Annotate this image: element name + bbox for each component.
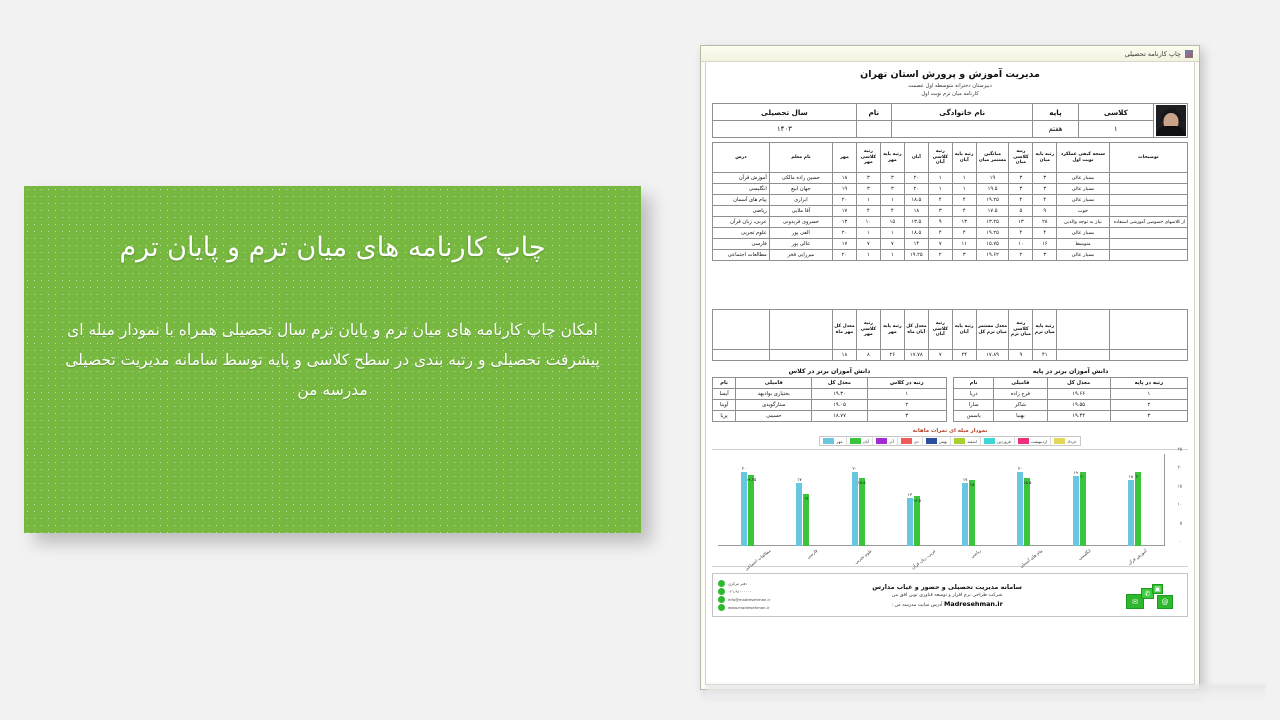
table-row: بسیار عالی۳۲۱۹.۶۲۳۲۱۹.۲۵۱۱۲۰میرزایی فخرم… — [713, 250, 1188, 261]
grades-cell-teacher: میرزایی فخر — [769, 250, 832, 261]
summary-header-row: رتبه پایه میان ترمرتبه کلاسی میان ترممعد… — [713, 310, 1188, 350]
grades-cell-qual: متوسط — [1057, 239, 1109, 250]
grades-col-header: رتبه پایه آبان — [952, 143, 976, 173]
avatar — [1156, 105, 1186, 136]
promo-slide-title: چاپ کارنامه های میان ترم و پایان ترم — [42, 186, 623, 269]
identity-value-grade: هفتم — [1033, 121, 1078, 138]
grades-cell-rank_class_aban: ۴ — [928, 228, 952, 239]
class-ranking-table: رتبه در کلاسمعدل کلفامیلینام ۱۱۹.۳۰بختیا… — [712, 377, 947, 422]
bar-aban: ۱۸.۵ — [1024, 478, 1030, 546]
footer-system-name: سامانه مدیریت تحصیلی و حضور و غیاب مدارس — [776, 583, 1118, 591]
grades-cell-qual: بسیار عالی — [1057, 184, 1109, 195]
legend-item: آذر — [872, 437, 897, 445]
bar-aban: ۲۰ — [1080, 472, 1086, 546]
footer-contacts: دفتر مرکزی۰۲۱-۹۱۰۰۰۰۰۰info@madresehman.i… — [718, 580, 770, 611]
bar-mehr: ۱۳ — [907, 498, 913, 546]
legend-item: آبان — [846, 437, 872, 445]
identity-header-firstname: نام — [856, 104, 891, 121]
grades-cell-avg_mid: ۱۵.۷۵ — [976, 239, 1009, 250]
legend-label: دی — [914, 439, 919, 444]
class-rank-cell-rank: ۱ — [867, 389, 946, 400]
bar-value-label: ۲۰ — [852, 466, 857, 471]
table-row: متوسط۱۶۱۰۱۵.۷۵۱۱۷۱۴۷۷۱۷عالی پورفارسی — [713, 239, 1188, 250]
summary-cell — [1109, 350, 1187, 361]
grade-rank-cell-name: یاسمن — [954, 411, 994, 422]
grades-cell-rank_grade_mehr: ۱ — [880, 195, 904, 206]
summary-col-header — [769, 310, 832, 350]
grades-body: بسیار عالی۳۳۱۹۱۱۲۰۳۳۱۸حسین زاده مالکیآمو… — [713, 173, 1188, 261]
grade-rank-cell-name: سارا — [954, 400, 994, 411]
grades-cell-teacher: ابرازی — [769, 195, 832, 206]
grades-col-header: آبان — [904, 143, 928, 173]
grades-cell-qual: بسیار عالی — [1057, 250, 1109, 261]
grades-cell-rank_grade_mid: ۴ — [1033, 228, 1057, 239]
bar-value-label: ۲۰ — [1018, 466, 1023, 471]
chart-title: نمودار میله ای نمرات ماهانه — [712, 428, 1188, 434]
window-title: چاپ کارنامه تحصیلی — [1125, 50, 1181, 58]
grades-cell-aban: ۱۸.۵ — [904, 228, 928, 239]
bar-value-label: ۱۳.۵ — [913, 498, 921, 503]
y-tick-label: ۵ — [1180, 520, 1182, 525]
school-name: دبیرستان دخترانه متوسطه اول عصمت — [706, 83, 1194, 89]
grades-cell-rank_grade_aban: ۱۳ — [952, 217, 976, 228]
grades-cell-teacher: عالی پور — [769, 239, 832, 250]
grades-cell-rank_grade_mid: ۳ — [1033, 184, 1057, 195]
legend-swatch — [823, 438, 834, 444]
legend-item: مهر — [820, 437, 845, 445]
summary-cell — [1057, 350, 1109, 361]
grade-rank-col-header: فامیلی — [994, 378, 1047, 389]
grades-cell-rank_class_mehr: ۴ — [856, 206, 880, 217]
grades-cell-rank_class_mehr: ۱ — [856, 228, 880, 239]
mobile-icon — [718, 588, 725, 595]
bar-value-label: ۱۹.۲۵ — [746, 477, 756, 482]
student-photo-cell — [1154, 104, 1188, 138]
grades-cell-rank_grade_mid: ۴ — [1033, 195, 1057, 206]
bar-value-label: ۱۸.۵ — [858, 480, 866, 485]
grades-cell-rank_class_mid: ۱۰ — [1009, 239, 1033, 250]
legend-swatch — [926, 438, 937, 444]
summary-value-row: ۴۱۹۱۷.۸۹۲۴۷۱۷.۷۸۲۶۸۱۸ — [713, 350, 1188, 361]
grade-rank-cell-avg: ۱۹.۶۶ — [1047, 389, 1110, 400]
summary-cell: ۹ — [1009, 350, 1033, 361]
grades-header-row: توضیحاتسنجه کیفی عملکرد نوبت اولرتبه پای… — [713, 143, 1188, 173]
table-row: بسیار عالی۳۳۱۹۱۱۲۰۳۳۱۸حسین زاده مالکیآمو… — [713, 173, 1188, 184]
grade-rank-col-header: معدل کل — [1047, 378, 1110, 389]
grade-rank-cell-avg: ۱۹.۵۵ — [1047, 400, 1110, 411]
class-rank-cell-avg: ۱۸.۷۷ — [812, 411, 867, 422]
grades-cell-aban: ۱۳.۵ — [904, 217, 928, 228]
grades-col-header: رتبه کلاسی آبان — [928, 143, 952, 173]
grade-ranking-block: دانش آموزان برتر در پایه رتبه در پایهمعد… — [953, 368, 1188, 422]
class-rank-cell-avg: ۱۹.۰۵ — [812, 400, 867, 411]
footer-company: شرکت طراحی نرم افزار و توسعه فناوری نوین… — [776, 593, 1118, 598]
grade-rank-col-header: نام — [954, 378, 994, 389]
grades-cell-rank_class_aban: ۲ — [928, 250, 952, 261]
grades-cell-avg_mid: ۱۹.۵ — [976, 184, 1009, 195]
grades-cell-rank_grade_mehr: ۴ — [880, 206, 904, 217]
summary-col-header: رتبه پایه مهر — [880, 310, 904, 350]
table-row: ۱۱۹.۶۶فرج زادهدریا — [954, 389, 1188, 400]
grades-cell-note — [1109, 184, 1187, 195]
grades-cell-rank_grade_mid: ۳ — [1033, 250, 1057, 261]
legend-swatch — [954, 438, 965, 444]
grades-cell-teacher: الفی پور — [769, 228, 832, 239]
table-row: ۳۱۸.۷۷حسینیپریا — [713, 411, 947, 422]
identity-value-lastname — [891, 121, 1032, 138]
summary-cell — [769, 350, 832, 361]
grades-cell-rank_class_mid: ۴ — [1009, 228, 1033, 239]
report-page: مدیریت آموزش و پرورش استان تهران دبیرستا… — [705, 62, 1195, 685]
footer-website-line: Madresehman.ir آدرس سایت مدرسه من : — [776, 600, 1118, 608]
grades-cell-mehr: ۱۹ — [832, 184, 856, 195]
report-type: کارنامه میان ترم نوبت اول — [706, 91, 1194, 97]
email-icon — [718, 596, 725, 603]
bar-mehr: ۱۸ — [1128, 480, 1134, 546]
bar-group: ۲۰۱۹ — [1073, 454, 1086, 546]
bar-mehr: ۲۰ — [852, 472, 858, 546]
legend-label: اردیبهشت — [1031, 439, 1047, 444]
grade-rank-cell-family: بهنیا — [994, 411, 1047, 422]
grades-cell-rank_class_mid: ۱۳ — [1009, 217, 1033, 228]
grades-cell-mehr: ۱۳ — [832, 217, 856, 228]
summary-cell: ۴۱ — [1033, 350, 1057, 361]
chart-bars: ۲۰۱۸۲۰۱۹۱۸.۵۲۰۱۸۱۷۱۳.۵۱۳۱۸.۵۲۰۱۴۱۷۱۹.۲۵۲… — [720, 454, 1162, 546]
legend-swatch — [1018, 438, 1029, 444]
bar-value-label: ۲۰ — [742, 466, 747, 471]
grades-cell-subject: آموزش قرآن — [713, 173, 770, 184]
grades-cell-rank_grade_aban: ۴ — [952, 195, 976, 206]
table-row: ۲۱۹.۵۵شاکرسارا — [954, 400, 1188, 411]
identity-value-class: ۱ — [1078, 121, 1153, 138]
brand-logo-icon: ✉ ✆ ▣ @ — [1124, 578, 1182, 612]
bar-aban: ۱۳.۵ — [914, 496, 920, 546]
grades-cell-mehr: ۱۷ — [832, 239, 856, 250]
summary-col-header: رتبه کلاسی مهر — [856, 310, 880, 350]
grades-cell-rank_grade_mehr: ۱ — [880, 228, 904, 239]
class-rank-cell-rank: ۳ — [867, 411, 946, 422]
grades-cell-rank_grade_mehr: ۱ — [880, 250, 904, 261]
grades-cell-rank_class_mehr: ۳ — [856, 173, 880, 184]
grades-cell-aban: ۲۰ — [904, 173, 928, 184]
grade-ranking-header-row: رتبه در پایهمعدل کلفامیلینام — [954, 378, 1188, 389]
bar-group: ۱۸.۵۲۰ — [1017, 454, 1030, 546]
grades-col-header: میانگین مستمر میان — [976, 143, 1009, 173]
grades-cell-note — [1109, 239, 1187, 250]
bar-aban: ۲۰ — [1135, 472, 1141, 546]
x-tick-label: علوم تجربی — [853, 548, 880, 575]
grades-cell-rank_grade_aban: ۴ — [952, 228, 976, 239]
grade-rank-cell-family: شاکر — [994, 400, 1047, 411]
legend-label: اسفند — [967, 439, 977, 444]
footer-brand: Madresehman.ir — [944, 600, 1003, 608]
bar-value-label: ۲۰ — [1136, 474, 1141, 479]
bar-mehr: ۲۰ — [1017, 472, 1023, 546]
legend-item: بهمن — [922, 437, 950, 445]
grades-cell-rank_grade_mehr: ۷ — [880, 239, 904, 250]
chart-legend: خرداداردیبهشتفروردیناسفندبهمندیآذرآبانمه… — [819, 436, 1080, 446]
bar-aban: ۱۸ — [969, 480, 975, 546]
grades-cell-teacher: آقا ملایی — [769, 206, 832, 217]
y-tick-label: ۲۰ — [1178, 465, 1183, 470]
globe-icon — [718, 604, 725, 611]
grades-col-header: رتبه پایه میان — [1033, 143, 1057, 173]
grades-cell-rank_class_aban: ۱ — [928, 184, 952, 195]
legend-label: آذر — [889, 439, 894, 444]
grades-col-header: توضیحات — [1109, 143, 1187, 173]
x-tick-label: انگلیسی — [1077, 548, 1100, 571]
y-tick-label: ۲۵ — [1178, 447, 1183, 452]
grades-cell-rank_class_mehr: ۳ — [856, 184, 880, 195]
bar-value-label: ۱۸ — [1129, 474, 1134, 479]
class-ranking-caption: دانش آموزان برتر در کلاس — [712, 368, 947, 375]
grade-rank-cell-rank: ۲ — [1110, 400, 1187, 411]
grades-cell-note — [1109, 173, 1187, 184]
grades-cell-qual: بسیار عالی — [1057, 228, 1109, 239]
summary-col-header: رتبه کلاسی میان ترم — [1009, 310, 1033, 350]
table-row: خوب۹۵۱۷.۵۴۳۱۸۴۴۱۷آقا ملاییریاضی — [713, 206, 1188, 217]
grades-cell-rank_class_mehr: ۱۰ — [856, 217, 880, 228]
identity-value-firstname — [856, 121, 891, 138]
table-row: ۱۱۹.۳۰بختیاری بوادیهدآیسا — [713, 389, 947, 400]
grades-cell-rank_class_mid: ۳ — [1009, 184, 1033, 195]
legend-item: اسفند — [950, 437, 980, 445]
grades-cell-rank_grade_mid: ۳ — [1033, 173, 1057, 184]
grade-rank-cell-avg: ۱۹.۴۴ — [1047, 411, 1110, 422]
class-rank-col-header: فامیلی — [736, 378, 812, 389]
report-preview-window: چاپ کارنامه تحصیلی مدیریت آموزش و پرورش … — [700, 45, 1200, 690]
legend-swatch — [901, 438, 912, 444]
grades-cell-subject: مطالعات اجتماعی — [713, 250, 770, 261]
grades-cell-avg_mid: ۱۷.۵ — [976, 206, 1009, 217]
report-footer: ✉ ✆ ▣ @ سامانه مدیریت تحصیلی و حضور و غی… — [712, 573, 1188, 617]
contact-row: ۰۲۱-۹۱۰۰۰۰۰۰ — [718, 588, 752, 595]
grades-cell-rank_class_mehr: ۱ — [856, 250, 880, 261]
grades-cell-rank_class_aban: ۱ — [928, 173, 952, 184]
grades-cell-aban: ۲۰ — [904, 184, 928, 195]
y-tick-label: ۰ — [1180, 539, 1182, 544]
legend-label: فروردین — [997, 439, 1011, 444]
org-title: مدیریت آموزش و پرورش استان تهران — [706, 69, 1194, 80]
summary-cell: ۲۴ — [952, 350, 976, 361]
grades-cell-rank_grade_mehr: ۱۵ — [880, 217, 904, 228]
x-tick-label: ریاضی — [970, 548, 990, 569]
class-ranking-header-row: رتبه در کلاسمعدل کلفامیلینام — [713, 378, 947, 389]
class-rank-col-header: معدل کل — [812, 378, 867, 389]
summary-cell: ۷ — [928, 350, 952, 361]
contact-row: info@madresehman.ir — [718, 596, 770, 603]
identity-header-row: کلاسی پایه نام خانوادگی نام سال تحصیلی — [713, 104, 1188, 121]
class-rank-cell-name: پریا — [713, 411, 736, 422]
contact-row: دفتر مرکزی — [718, 580, 747, 587]
summary-col-header — [713, 310, 770, 350]
table-row: از کلاسهای خصوصی آموزشی استفادهنیاز به ت… — [713, 217, 1188, 228]
page-bottom-shadow — [706, 684, 1266, 698]
identity-value-year: ۱۴۰۳ — [713, 121, 857, 138]
class-rank-col-header: رتبه در کلاس — [867, 378, 946, 389]
legend-item: اردیبهشت — [1014, 437, 1050, 445]
summary-col-header: رتبه پایه میان ترم — [1033, 310, 1057, 350]
grades-cell-avg_mid: ۱۹.۲۵ — [976, 228, 1009, 239]
summary-cell: ۸ — [856, 350, 880, 361]
identity-header-grade: پایه — [1033, 104, 1078, 121]
grades-cell-mehr: ۱۸ — [832, 173, 856, 184]
x-tick-label: آموزش قرآن — [1127, 548, 1156, 576]
grades-cell-rank_class_aban: ۴ — [928, 195, 952, 206]
legend-swatch — [984, 438, 995, 444]
grades-cell-rank_class_aban: ۷ — [928, 239, 952, 250]
grades-cell-subject: علوم تجربی — [713, 228, 770, 239]
rankings-section: دانش آموزان برتر در پایه رتبه در پایهمعد… — [712, 368, 1188, 422]
summary-cell — [713, 350, 770, 361]
contact-text: www.madresehman.ir — [728, 605, 769, 610]
grades-cell-teacher: حسین زاده مالکی — [769, 173, 832, 184]
bar-value-label: ۱۴ — [804, 496, 809, 501]
bar-mehr: ۱۹ — [1073, 476, 1079, 546]
chart-plot-area: ۰۵۱۰۱۵۲۰۲۵ ۲۰۱۸۲۰۱۹۱۸.۵۲۰۱۸۱۷۱۳.۵۱۳۱۸.۵۲… — [712, 449, 1188, 567]
promo-slide: چاپ کارنامه های میان ترم و پایان ترم امک… — [24, 186, 641, 533]
x-tick-label: فارسی — [805, 548, 826, 570]
grades-cell-aban: ۱۸.۵ — [904, 195, 928, 206]
grades-cell-note — [1109, 250, 1187, 261]
grade-ranking-body: ۱۱۹.۶۶فرج زادهدریا۲۱۹.۵۵شاکرسارا۳۱۹.۴۴به… — [954, 389, 1188, 422]
grades-cell-avg_mid: ۱۳.۲۵ — [976, 217, 1009, 228]
grades-cell-note — [1109, 228, 1187, 239]
identity-header-class: کلاسی — [1078, 104, 1153, 121]
chart-y-axis-line — [1164, 454, 1165, 546]
grades-cell-rank_grade_aban: ۴ — [952, 206, 976, 217]
class-rank-cell-family: حسینی — [736, 411, 812, 422]
class-rank-cell-name: آیسا — [713, 389, 736, 400]
monthly-scores-chart: نمودار میله ای نمرات ماهانه خرداداردیبهش… — [712, 428, 1188, 567]
grades-cell-rank_grade_mehr: ۳ — [880, 173, 904, 184]
chart-x-labels: آموزش قرآنانگلیسیپیام های آسمانریاضیعربی… — [720, 546, 1162, 566]
grades-cell-aban: ۱۴ — [904, 239, 928, 250]
summary-col-header: معدل کل آبان ماه — [904, 310, 928, 350]
grade-rank-cell-rank: ۳ — [1110, 411, 1187, 422]
table-row: بسیار عالی۴۴۱۹.۲۵۴۴۱۸.۵۱۱۲۰الفی پورعلوم … — [713, 228, 1188, 239]
legend-swatch — [850, 438, 861, 444]
legend-item: فروردین — [980, 437, 1014, 445]
summary-col-header: معدل مستمر میان ترم کل — [976, 310, 1009, 350]
grades-cell-subject: فارسی — [713, 239, 770, 250]
class-ranking-body: ۱۱۹.۳۰بختیاری بوادیهدآیسا۲۱۹.۰۵ستارگویدی… — [713, 389, 947, 422]
grades-col-header: رتبه پایه مهر — [880, 143, 904, 173]
grades-cell-subject: ریاضی — [713, 206, 770, 217]
grade-ranking-table: رتبه در پایهمعدل کلفامیلینام ۱۱۹.۶۶فرج ز… — [953, 377, 1188, 422]
grades-cell-mehr: ۱۷ — [832, 206, 856, 217]
grades-cell-rank_class_mid: ۲ — [1009, 250, 1033, 261]
legend-label: خرداد — [1067, 439, 1076, 444]
bar-mehr: ۱۷ — [962, 483, 968, 546]
class-rank-cell-rank: ۲ — [867, 400, 946, 411]
summary-cell: ۱۸ — [832, 350, 856, 361]
legend-item: خرداد — [1050, 437, 1079, 445]
student-identity-table: کلاسی پایه نام خانوادگی نام سال تحصیلی ۱… — [712, 103, 1188, 138]
grades-cell-subject: پیام های آسمان — [713, 195, 770, 206]
bar-group: ۱۳.۵۱۳ — [907, 454, 920, 546]
class-ranking-block: دانش آموزان برتر در کلاس رتبه در کلاسمعد… — [712, 368, 947, 422]
grades-cell-rank_grade_mid: ۲۸ — [1033, 217, 1057, 228]
identity-value-row: ۱ هفتم ۱۴۰۳ — [713, 121, 1188, 138]
summary-table: رتبه پایه میان ترمرتبه کلاسی میان ترممعد… — [712, 309, 1188, 361]
grades-cell-avg_mid: ۱۹.۶۲ — [976, 250, 1009, 261]
grades-cell-mehr: ۲۰ — [832, 195, 856, 206]
bar-value-label: ۱۳ — [908, 492, 913, 497]
grades-col-header: مهر — [832, 143, 856, 173]
grades-cell-teacher: جهان ابیع — [769, 184, 832, 195]
grades-cell-mehr: ۲۰ — [832, 250, 856, 261]
contact-text: دفتر مرکزی — [728, 581, 747, 586]
bar-mehr: ۲۰ — [741, 472, 747, 546]
bar-aban: ۱۸.۵ — [859, 478, 865, 546]
summary-col-header: معدل کل مهر ماه — [832, 310, 856, 350]
summary-col-header — [1057, 310, 1109, 350]
grades-cell-qual: خوب — [1057, 206, 1109, 217]
grades-cell-rank_class_aban: ۹ — [928, 217, 952, 228]
table-row: بسیار عالی۴۴۱۹.۲۵۴۴۱۸.۵۱۱۲۰ابرازیپیام ها… — [713, 195, 1188, 206]
summary-cell: ۲۶ — [880, 350, 904, 361]
bar-group: ۲۰۱۸ — [1128, 454, 1141, 546]
class-rank-cell-avg: ۱۹.۳۰ — [812, 389, 867, 400]
grades-cell-rank_class_mehr: ۷ — [856, 239, 880, 250]
grades-col-header: نام معلم — [769, 143, 832, 173]
grades-col-header: درس — [713, 143, 770, 173]
grades-cell-rank_grade_mid: ۱۶ — [1033, 239, 1057, 250]
bar-group: ۱۸.۵۲۰ — [852, 454, 865, 546]
grades-cell-rank_class_mid: ۴ — [1009, 195, 1033, 206]
grades-cell-mehr: ۲۰ — [832, 228, 856, 239]
bar-value-label: ۱۸ — [970, 482, 975, 487]
grades-cell-rank_grade_mehr: ۳ — [880, 184, 904, 195]
legend-swatch — [1054, 438, 1065, 444]
grade-rank-cell-rank: ۱ — [1110, 389, 1187, 400]
footer-website-prefix: آدرس سایت مدرسه من : — [891, 603, 942, 608]
bar-group: ۱۴۱۷ — [796, 454, 809, 546]
bar-value-label: ۲۰ — [1080, 474, 1085, 479]
bar-aban: ۱۹.۲۵ — [748, 475, 754, 546]
grades-cell-rank_grade_aban: ۱ — [952, 184, 976, 195]
chart-y-axis: ۰۵۱۰۱۵۲۰۲۵ — [1166, 454, 1182, 546]
contact-text: info@madresehman.ir — [728, 597, 770, 602]
y-tick-label: ۱۰ — [1178, 502, 1183, 507]
window-titlebar: چاپ کارنامه تحصیلی — [701, 46, 1199, 62]
grade-ranking-caption: دانش آموزان برتر در پایه — [953, 368, 1188, 375]
table-row: ۳۱۹.۴۴بهنیایاسمن — [954, 411, 1188, 422]
grades-cell-aban: ۱۹.۲۵ — [904, 250, 928, 261]
identity-header-lastname: نام خانوادگی — [891, 104, 1032, 121]
contact-text: ۰۲۱-۹۱۰۰۰۰۰۰ — [728, 589, 752, 594]
footer-text-block: سامانه مدیریت تحصیلی و حضور و غیاب مدارس… — [776, 583, 1118, 608]
y-tick-label: ۱۵ — [1178, 483, 1183, 488]
grades-cell-qual: نیاز به توجه والدین — [1057, 217, 1109, 228]
grades-col-header: رتبه کلاسی میان — [1009, 143, 1033, 173]
contact-row: www.madresehman.ir — [718, 604, 769, 611]
app-icon — [1185, 50, 1193, 58]
class-rank-cell-name: آوینا — [713, 400, 736, 411]
bar-value-label: ۱۷ — [963, 477, 968, 482]
grades-cell-rank_class_mehr: ۱ — [856, 195, 880, 206]
grades-cell-subject: انگلیسی — [713, 184, 770, 195]
table-row: بسیار عالی۳۳۱۹.۵۱۱۲۰۳۳۱۹جهان ابیعانگلیسی — [713, 184, 1188, 195]
summary-cell: ۱۷.۷۸ — [904, 350, 928, 361]
grades-col-header: رتبه کلاسی مهر — [856, 143, 880, 173]
grades-cell-rank_grade_mid: ۹ — [1033, 206, 1057, 217]
grades-cell-avg_mid: ۱۹ — [976, 173, 1009, 184]
report-header: مدیریت آموزش و پرورش استان تهران دبیرستا… — [706, 62, 1194, 101]
bar-mehr: ۱۷ — [796, 483, 802, 546]
class-rank-cell-family: ستارگویدی — [736, 400, 812, 411]
